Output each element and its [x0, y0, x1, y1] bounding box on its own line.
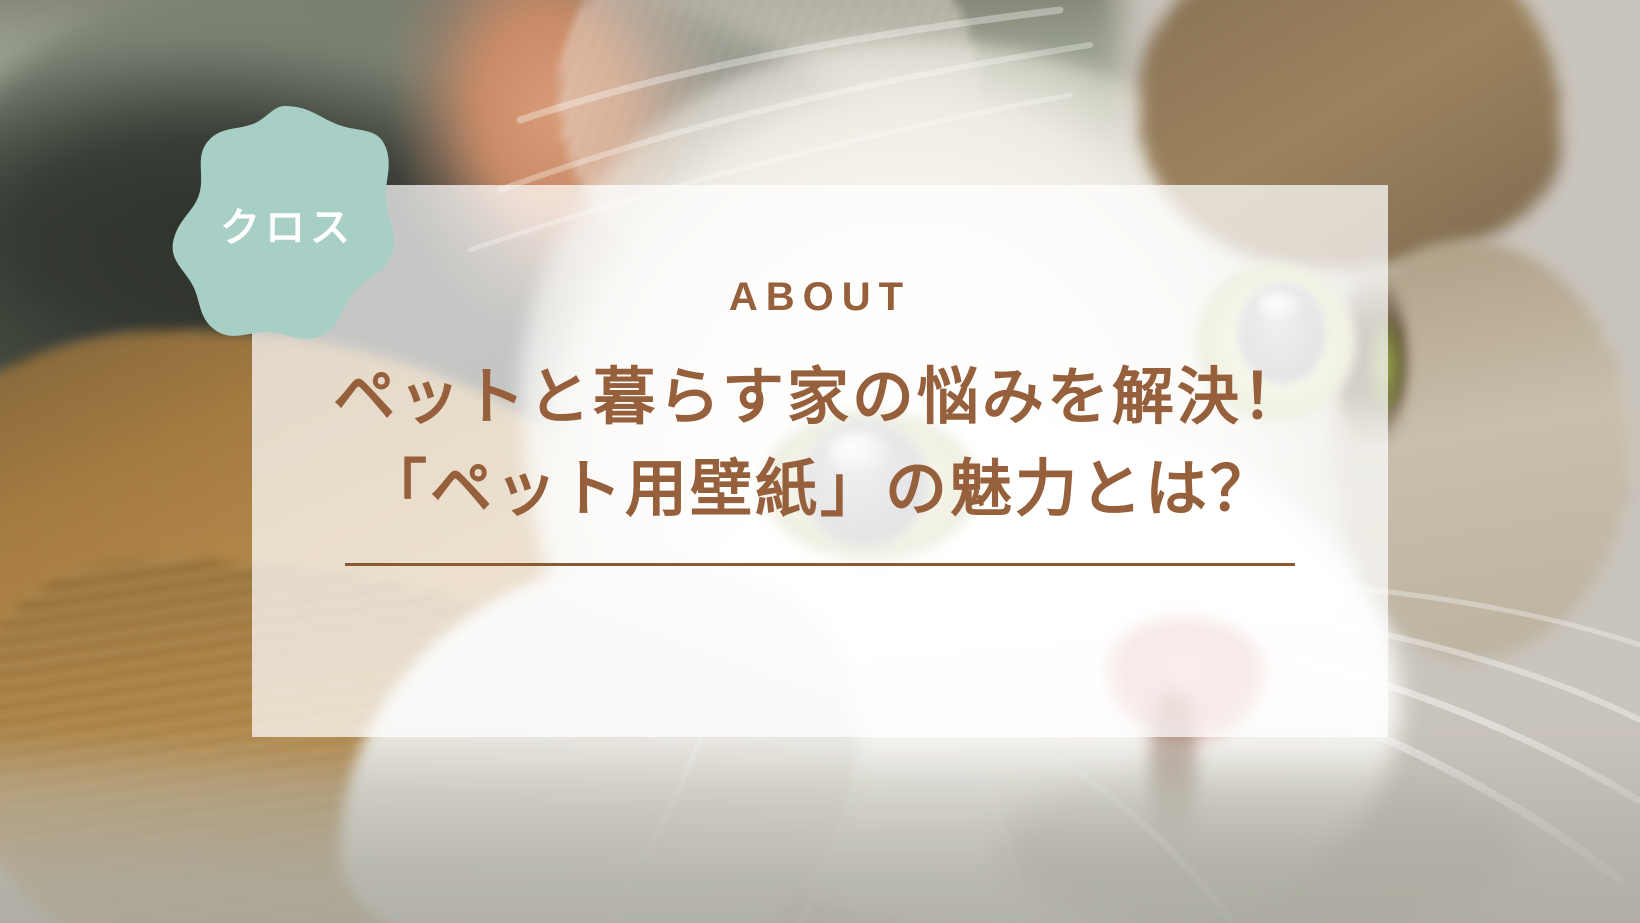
photo-bottom-blur-band: [0, 730, 1640, 923]
page-title-line-2: 「ペット用壁紙」の魅力とは？: [333, 443, 1307, 535]
category-badge-label: クロス: [172, 195, 398, 253]
about-hero-banner: ABOUT ペットと暮らす家の悩みを解決！ 「ペット用壁紙」の魅力とは？ クロス: [0, 0, 1640, 923]
page-title: ペットと暮らす家の悩みを解決！ 「ペット用壁紙」の魅力とは？: [333, 351, 1307, 535]
title-divider-rule: [345, 563, 1295, 566]
about-content-panel: ABOUT ペットと暮らす家の悩みを解決！ 「ペット用壁紙」の魅力とは？: [252, 185, 1388, 737]
page-title-line-1: ペットと暮らす家の悩みを解決！: [333, 351, 1307, 443]
section-eyebrow-label: ABOUT: [729, 277, 911, 317]
category-badge[interactable]: クロス: [172, 104, 398, 344]
